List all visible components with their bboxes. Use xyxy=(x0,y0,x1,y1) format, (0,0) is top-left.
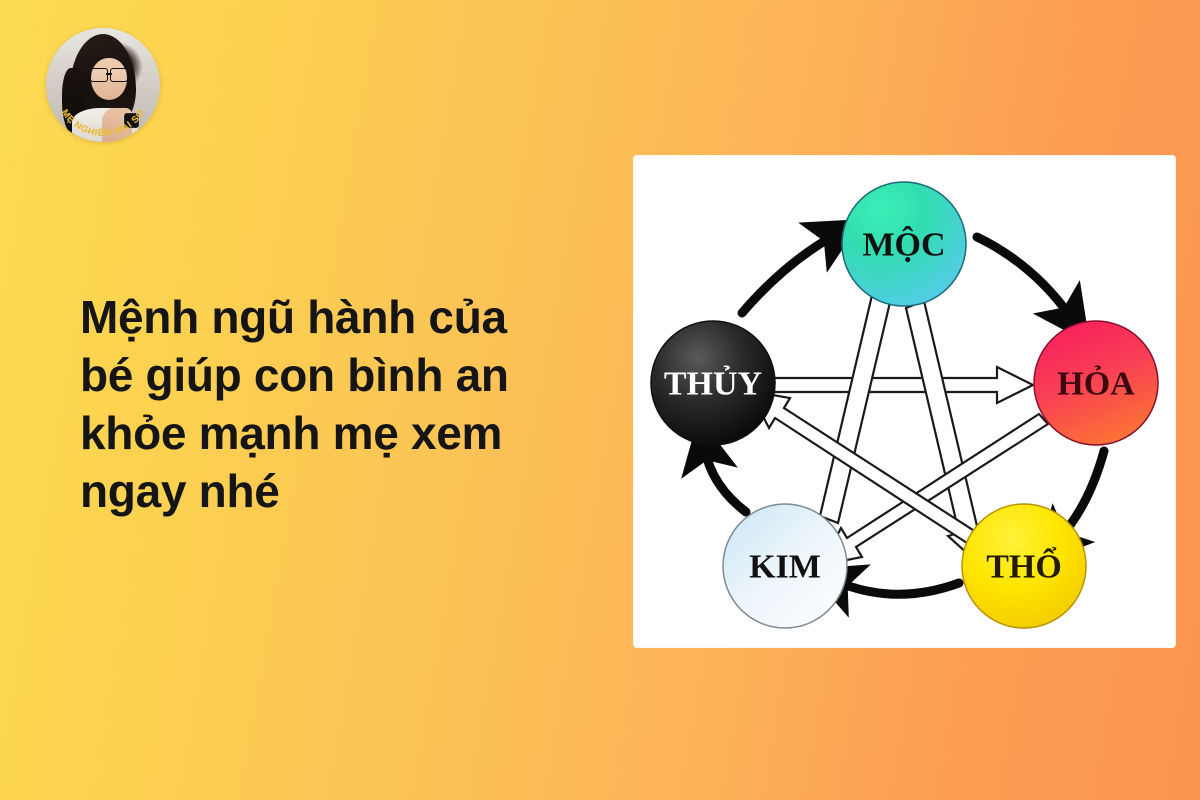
element-label-kim: KIM xyxy=(749,549,821,586)
element-node-moc[interactable]: MỘC xyxy=(842,182,966,306)
element-node-kim[interactable]: KIM xyxy=(723,504,847,628)
page-title: Mệnh ngũ hành của bé giúp con bình an kh… xyxy=(80,289,580,521)
avatar-watermark: MẸ NGHIÊM MAI SO xyxy=(46,28,160,142)
author-avatar: MẸ NGHIÊM MAI SO xyxy=(46,28,160,142)
arrow-thuy-to-moc xyxy=(742,236,833,313)
element-node-hoa[interactable]: HỎA xyxy=(1034,321,1158,445)
five-elements-diagram-panel: THỦY MỘC HỎA THỔ KIM xyxy=(634,156,1175,647)
element-label-moc: MỘC xyxy=(862,226,945,264)
headline-line-4: ngay nhé xyxy=(80,463,580,521)
element-node-thuy[interactable]: THỦY xyxy=(651,321,775,445)
headline-line-2: bé giúp con bình an xyxy=(80,347,580,405)
arrow-thuy-to-hoa xyxy=(774,367,1033,403)
arrow-tho-to-kim xyxy=(838,582,959,594)
headline-line-3: khỏe mạnh mẹ xem xyxy=(80,405,580,463)
element-label-tho: THỔ xyxy=(986,547,1062,586)
element-node-tho[interactable]: THỔ xyxy=(962,504,1086,628)
avatar-watermark-text: MẸ NGHIÊM MAI SO xyxy=(60,107,146,138)
headline-line-1: Mệnh ngũ hành của xyxy=(80,289,580,347)
arrow-kim-to-thuy xyxy=(705,450,746,512)
element-label-thuy: THỦY xyxy=(664,365,762,403)
element-label-hoa: HỎA xyxy=(1057,365,1135,403)
arrow-moc-to-hoa xyxy=(977,237,1070,316)
